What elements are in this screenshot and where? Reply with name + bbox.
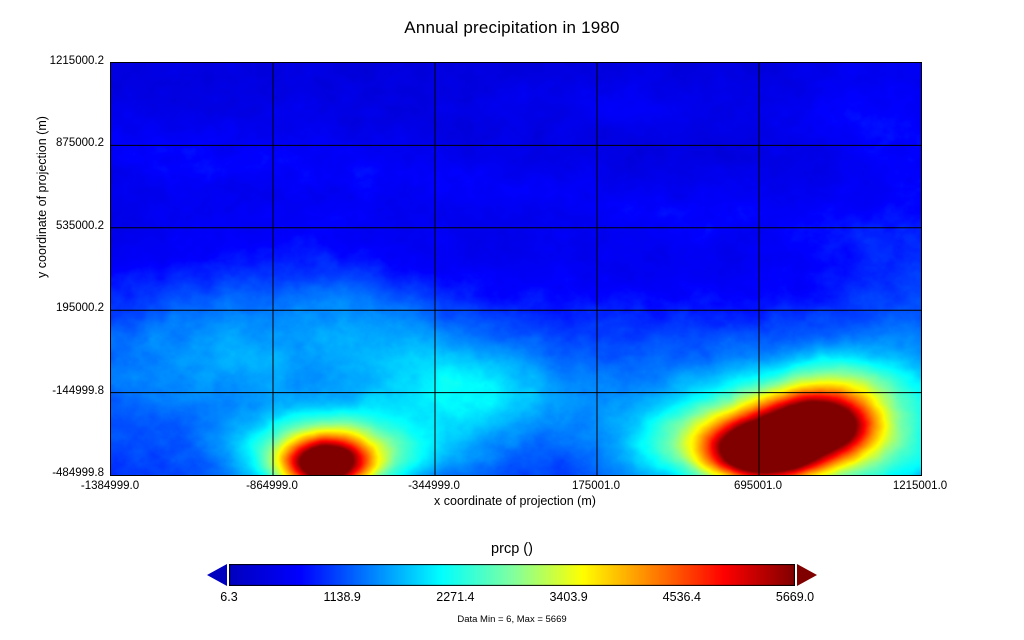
x-axis-title: x coordinate of projection (m) bbox=[110, 494, 920, 508]
colorbar-tick-label: 1138.9 bbox=[324, 590, 361, 604]
heatmap-image bbox=[111, 63, 921, 475]
data-range-footnote: Data Min = 6, Max = 5669 bbox=[0, 614, 1024, 625]
y-tick-label: 875000.2 bbox=[0, 137, 104, 149]
y-tick-label: -484999.8 bbox=[0, 467, 104, 479]
chart-title: Annual precipitation in 1980 bbox=[0, 18, 1024, 38]
colorbar-tick-label: 3403.9 bbox=[549, 590, 587, 604]
x-tick-label: 1215001.0 bbox=[893, 480, 947, 492]
colorbar-bar bbox=[229, 564, 795, 586]
colorbar-title: prcp () bbox=[0, 541, 1024, 557]
x-tick-label: -344999.0 bbox=[408, 480, 460, 492]
chart-root: Annual precipitation in 1980 -484999.8-1… bbox=[0, 0, 1024, 640]
colorbar-tick-label: 4536.4 bbox=[663, 590, 701, 604]
x-tick-label: -1384999.0 bbox=[81, 480, 139, 492]
heatmap-plot-area bbox=[110, 62, 922, 476]
y-tick-label: 195000.2 bbox=[0, 302, 104, 314]
y-tick-label: -144999.8 bbox=[0, 385, 104, 397]
x-tick-label: 695001.0 bbox=[734, 480, 782, 492]
colorbar-tick-label: 6.3 bbox=[220, 590, 237, 604]
y-axis-title: y coordinate of projection (m) bbox=[35, 57, 49, 337]
colorbar-tick-label: 2271.4 bbox=[436, 590, 474, 604]
y-tick-label: 1215000.2 bbox=[0, 55, 104, 67]
colorbar-over-arrow-icon bbox=[797, 564, 817, 586]
x-tick-label: 175001.0 bbox=[572, 480, 620, 492]
y-tick-label: 535000.2 bbox=[0, 220, 104, 232]
colorbar-gradient bbox=[229, 564, 795, 586]
colorbar: 6.31138.92271.43403.94536.45669.0 bbox=[207, 564, 817, 586]
x-tick-label: -864999.0 bbox=[246, 480, 298, 492]
colorbar-under-arrow-icon bbox=[207, 564, 227, 586]
colorbar-tick-label: 5669.0 bbox=[776, 590, 814, 604]
